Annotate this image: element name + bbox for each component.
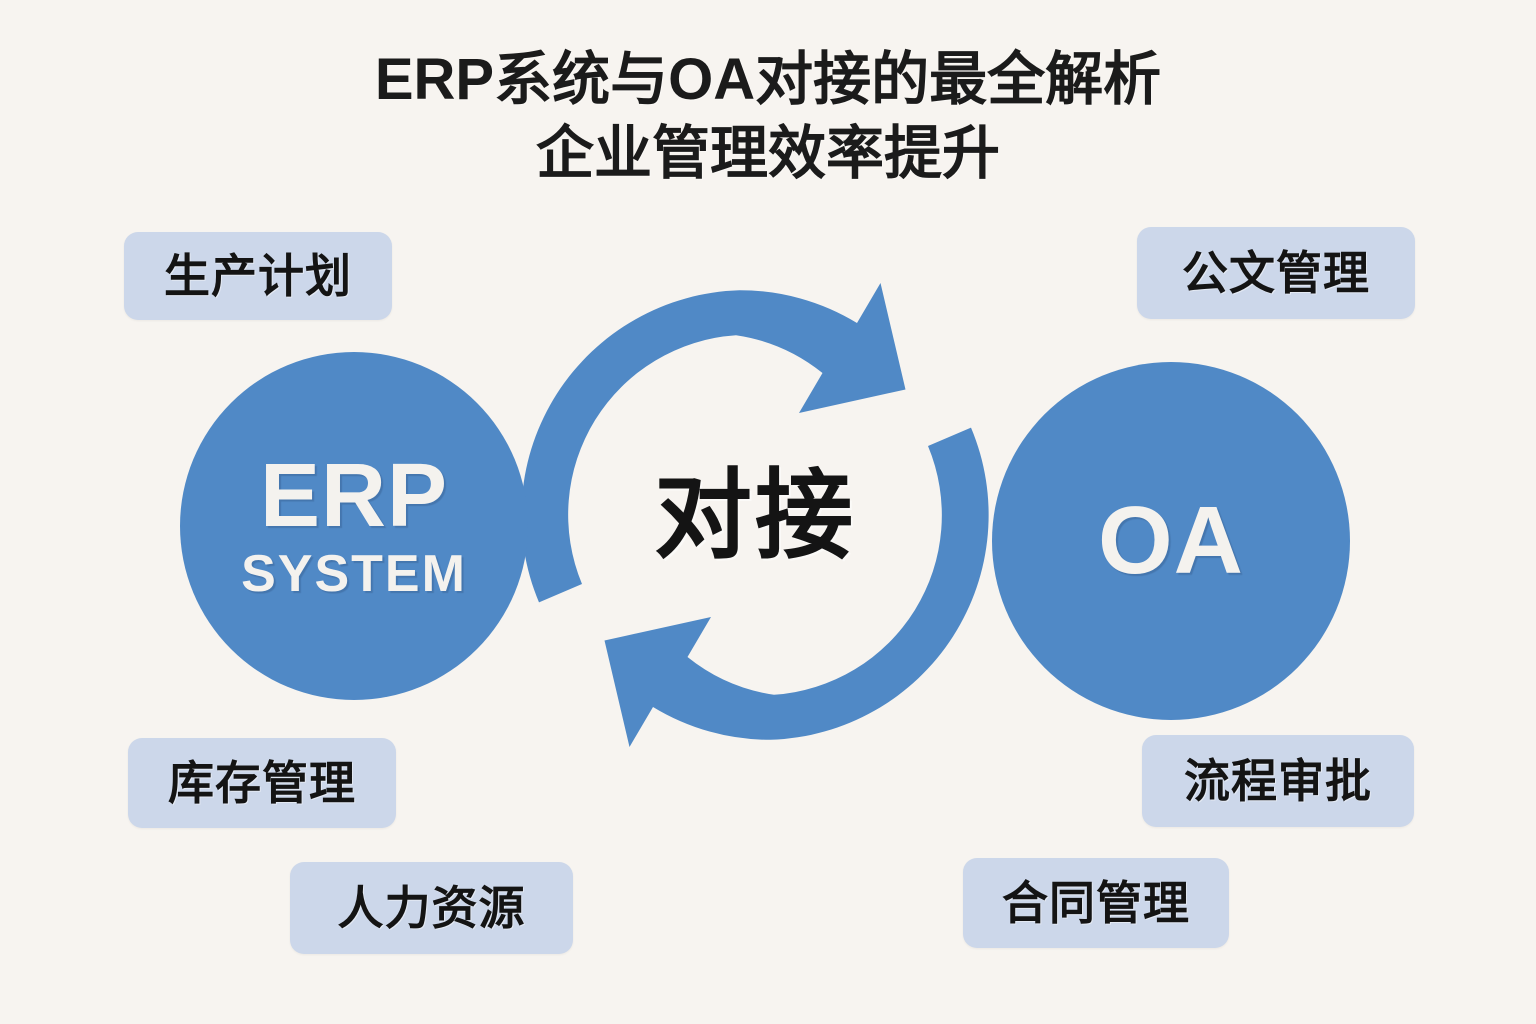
chip-contract-management-label: 合同管理 (1002, 880, 1190, 926)
title-line-1: ERP系统与OA对接的最全解析 (0, 44, 1536, 116)
node-oa-title: OA (1098, 494, 1244, 588)
diagram-canvas: ERP系统与OA对接的最全解析 企业管理效率提升 生产计划 库存管理 人力资源 … (0, 0, 1536, 1024)
chip-contract-management: 合同管理 (963, 858, 1229, 948)
circular-arrows-icon (520, 250, 990, 780)
chip-human-resources-label: 人力资源 (338, 885, 526, 931)
chip-inventory-management: 库存管理 (128, 738, 396, 828)
chip-human-resources: 人力资源 (290, 862, 573, 954)
chip-production-plan-label: 生产计划 (164, 253, 352, 299)
chip-inventory-management-label: 库存管理 (168, 760, 356, 806)
node-erp-subtitle: SYSTEM (241, 548, 467, 600)
chip-process-approval-label: 流程审批 (1184, 758, 1372, 804)
node-erp: ERP SYSTEM (180, 352, 528, 700)
chip-process-approval: 流程审批 (1142, 735, 1414, 827)
page-title: ERP系统与OA对接的最全解析 企业管理效率提升 (0, 44, 1536, 190)
chip-production-plan: 生产计划 (124, 232, 392, 320)
node-oa: OA (992, 362, 1350, 720)
node-erp-title: ERP (260, 452, 448, 540)
chip-document-management: 公文管理 (1137, 227, 1415, 319)
title-line-2: 企业管理效率提升 (0, 118, 1536, 190)
chip-document-management-label: 公文管理 (1182, 250, 1370, 296)
